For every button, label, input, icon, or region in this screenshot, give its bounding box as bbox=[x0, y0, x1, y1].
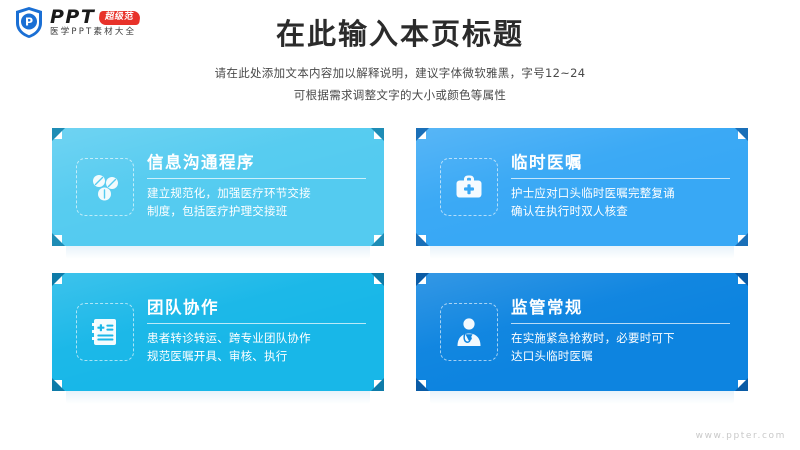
doctor-person-icon bbox=[440, 303, 498, 361]
page-subtitle-line-1: 请在此处添加文本内容加以解释说明，建议字体微软雅黑，字号12~24 bbox=[0, 63, 800, 84]
card-description-line-1: 在实施紧急抢救时，必要时可下 bbox=[511, 330, 730, 348]
corner-notch-top-left bbox=[416, 128, 429, 141]
card-divider bbox=[147, 178, 366, 179]
card-divider bbox=[511, 323, 730, 324]
card-content: 临时医嘱 护士应对口头临时医嘱完整复诵 确认在执行时双人核查 bbox=[432, 153, 734, 220]
card-wrapper: 监管常规 在实施紧急抢救时，必要时可下 达口头临时医嘱 bbox=[416, 273, 748, 391]
card-description-line-2: 确认在执行时双人核查 bbox=[511, 203, 730, 221]
corner-notch-top-right bbox=[735, 273, 748, 286]
corner-notch-top-right bbox=[735, 128, 748, 141]
card-wrapper: 临时医嘱 护士应对口头临时医嘱完整复诵 确认在执行时双人核查 bbox=[416, 128, 748, 246]
card-content: 信息沟通程序 建立规范化，加强医疗环节交接 制度，包括医疗护理交接班 bbox=[68, 153, 370, 220]
feature-card-4[interactable]: 监管常规 在实施紧急抢救时，必要时可下 达口头临时医嘱 bbox=[416, 273, 748, 391]
corner-notch-bottom-left bbox=[52, 233, 65, 246]
card-title: 监管常规 bbox=[511, 298, 730, 318]
feature-card-1[interactable]: 信息沟通程序 建立规范化，加强医疗环节交接 制度，包括医疗护理交接班 bbox=[52, 128, 384, 246]
card-description: 护士应对口头临时医嘱完整复诵 确认在执行时双人核查 bbox=[511, 185, 730, 221]
corner-notch-top-left bbox=[52, 128, 65, 141]
site-watermark: www.ppter.com bbox=[696, 431, 786, 441]
corner-notch-bottom-right bbox=[371, 233, 384, 246]
corner-notch-bottom-left bbox=[416, 378, 429, 391]
card-description-line-2: 制度，包括医疗护理交接班 bbox=[147, 203, 366, 221]
card-text-block: 临时医嘱 护士应对口头临时医嘱完整复诵 确认在执行时双人核查 bbox=[511, 153, 734, 220]
card-wrapper: 信息沟通程序 建立规范化，加强医疗环节交接 制度，包括医疗护理交接班 bbox=[52, 128, 384, 246]
corner-notch-bottom-right bbox=[735, 378, 748, 391]
card-divider bbox=[147, 323, 366, 324]
card-description-line-1: 患者转诊转运、跨专业团队协作 bbox=[147, 330, 366, 348]
card-description-line-2: 达口头临时医嘱 bbox=[511, 348, 730, 366]
card-description-line-1: 护士应对口头临时医嘱完整复诵 bbox=[511, 185, 730, 203]
card-description: 建立规范化，加强医疗环节交接 制度，包括医疗护理交接班 bbox=[147, 185, 366, 221]
card-description: 患者转诊转运、跨专业团队协作 规范医嘱开具、审核、执行 bbox=[147, 330, 366, 366]
card-text-block: 监管常规 在实施紧急抢救时，必要时可下 达口头临时医嘱 bbox=[511, 298, 734, 365]
card-text-block: 信息沟通程序 建立规范化，加强医疗环节交接 制度，包括医疗护理交接班 bbox=[147, 153, 370, 220]
corner-notch-top-right bbox=[371, 128, 384, 141]
card-description-line-2: 规范医嘱开具、审核、执行 bbox=[147, 348, 366, 366]
corner-notch-top-right bbox=[371, 273, 384, 286]
card-description: 在实施紧急抢救时，必要时可下 达口头临时医嘱 bbox=[511, 330, 730, 366]
feature-card-2[interactable]: 临时医嘱 护士应对口头临时医嘱完整复诵 确认在执行时双人核查 bbox=[416, 128, 748, 246]
report-document-icon bbox=[76, 303, 134, 361]
corner-notch-top-left bbox=[52, 273, 65, 286]
page-subtitle-line-2: 可根据需求调整文字的大小或颜色等属性 bbox=[0, 85, 800, 106]
feature-card-grid: 信息沟通程序 建立规范化，加强医疗环节交接 制度，包括医疗护理交接班 bbox=[0, 128, 800, 391]
corner-notch-bottom-left bbox=[52, 378, 65, 391]
pills-icon bbox=[76, 158, 134, 216]
page-header: 在此输入本页标题 请在此处添加文本内容加以解释说明，建议字体微软雅黑，字号12~… bbox=[0, 16, 800, 106]
card-content: 团队协作 患者转诊转运、跨专业团队协作 规范医嘱开具、审核、执行 bbox=[68, 298, 370, 365]
corner-notch-bottom-left bbox=[416, 233, 429, 246]
card-title: 信息沟通程序 bbox=[147, 153, 366, 173]
card-content: 监管常规 在实施紧急抢救时，必要时可下 达口头临时医嘱 bbox=[432, 298, 734, 365]
corner-notch-bottom-right bbox=[735, 233, 748, 246]
card-title: 临时医嘱 bbox=[511, 153, 730, 173]
card-description-line-1: 建立规范化，加强医疗环节交接 bbox=[147, 185, 366, 203]
medical-kit-icon bbox=[440, 158, 498, 216]
feature-card-3[interactable]: 团队协作 患者转诊转运、跨专业团队协作 规范医嘱开具、审核、执行 bbox=[52, 273, 384, 391]
card-text-block: 团队协作 患者转诊转运、跨专业团队协作 规范医嘱开具、审核、执行 bbox=[147, 298, 370, 365]
card-divider bbox=[511, 178, 730, 179]
corner-notch-bottom-right bbox=[371, 378, 384, 391]
card-title: 团队协作 bbox=[147, 298, 366, 318]
card-wrapper: 团队协作 患者转诊转运、跨专业团队协作 规范医嘱开具、审核、执行 bbox=[52, 273, 384, 391]
page-subtitle: 请在此处添加文本内容加以解释说明，建议字体微软雅黑，字号12~24 可根据需求调… bbox=[0, 63, 800, 106]
page-title: 在此输入本页标题 bbox=[0, 16, 800, 52]
corner-notch-top-left bbox=[416, 273, 429, 286]
